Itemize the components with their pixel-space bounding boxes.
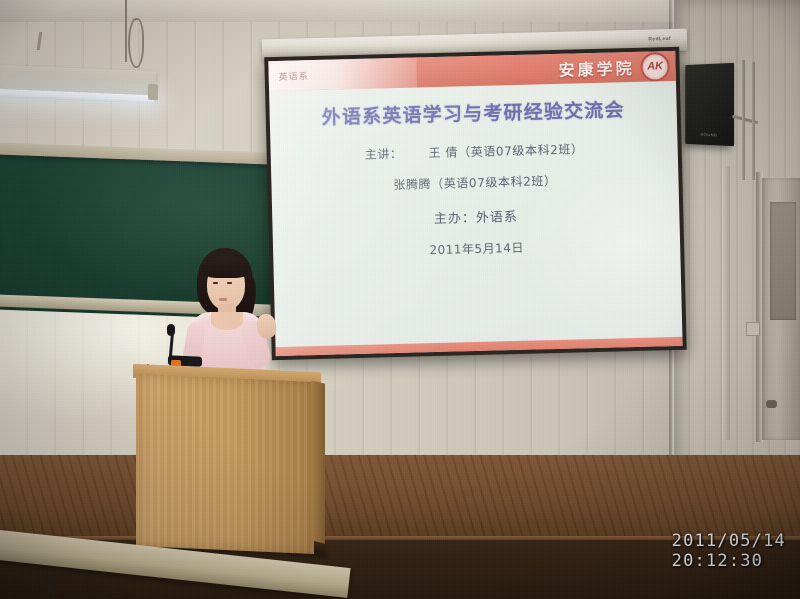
presentation-slide: 英语系 安康学院 AK 外语系英语学习与考研经验交流会 主讲： 王 倩（英语07… (268, 51, 682, 356)
speaker-label: 主讲： (365, 145, 403, 163)
slide-speaker-line-one: 主讲： 王 倩（英语07级本科2班） (289, 138, 660, 164)
school-name-text: 安康学院 (558, 55, 635, 81)
camera-date: 2011/05/14 (672, 531, 786, 551)
presenter-eye-left (213, 282, 218, 284)
projection-screen-frame: 英语系 安康学院 AK 外语系英语学习与考研经验交流会 主讲： 王 倩（英语07… (264, 47, 687, 360)
slide-speaker-line-two: 张腾腾（英语07级本科2班） (289, 169, 660, 195)
slide-date-line: 2011年5月14日 (291, 235, 662, 261)
presenter-necklace (223, 324, 230, 333)
presenter-hair-fringe (203, 256, 249, 278)
podium-front-panel (136, 374, 314, 554)
classroom-photo: SOUND RedLeaf 英语系 安康学院 AK 外语系英语学习与考研经验交流… (0, 0, 800, 599)
podium-side-panel (311, 380, 325, 543)
light-hanging-cable (125, 0, 127, 62)
light-cable-loop (128, 18, 144, 68)
presenter-mouth (219, 298, 227, 301)
speaker-one-name: 王 倩（英语07级本科2班） (428, 140, 584, 161)
school-branding: 安康学院 AK (558, 52, 670, 84)
camera-timestamp: 2011/05/14 20:12:30 (672, 531, 786, 571)
wall-speaker: SOUND (685, 63, 734, 146)
wall-conduit-right (752, 62, 755, 180)
wall-conduit-left (742, 60, 745, 180)
screen-brand-label: RedLeaf (648, 36, 671, 43)
speaker-brand-label: SOUND (701, 132, 718, 138)
fluorescent-end-cap (148, 84, 158, 100)
slide-title: 外语系英语学习与考研经验交流会 (287, 97, 659, 131)
classroom-door[interactable] (762, 178, 800, 440)
foreground-desk-leg (39, 573, 57, 599)
wall-switch-box[interactable] (746, 322, 760, 336)
door-panel (770, 202, 796, 320)
presenter-eye-right (227, 282, 232, 284)
school-logo-icon: AK (640, 52, 670, 82)
slide-header-left-text: 英语系 (279, 69, 309, 83)
slide-body: 外语系英语学习与考研经验交流会 主讲： 王 倩（英语07级本科2班） 张腾腾（英… (269, 81, 682, 347)
door-handle-icon[interactable] (766, 400, 777, 408)
lectern-podium (133, 368, 321, 551)
wall-trim-strip (722, 166, 730, 440)
camera-time: 20:12:30 (672, 551, 786, 571)
slide-host-line: 主办：外语系 (290, 202, 661, 230)
